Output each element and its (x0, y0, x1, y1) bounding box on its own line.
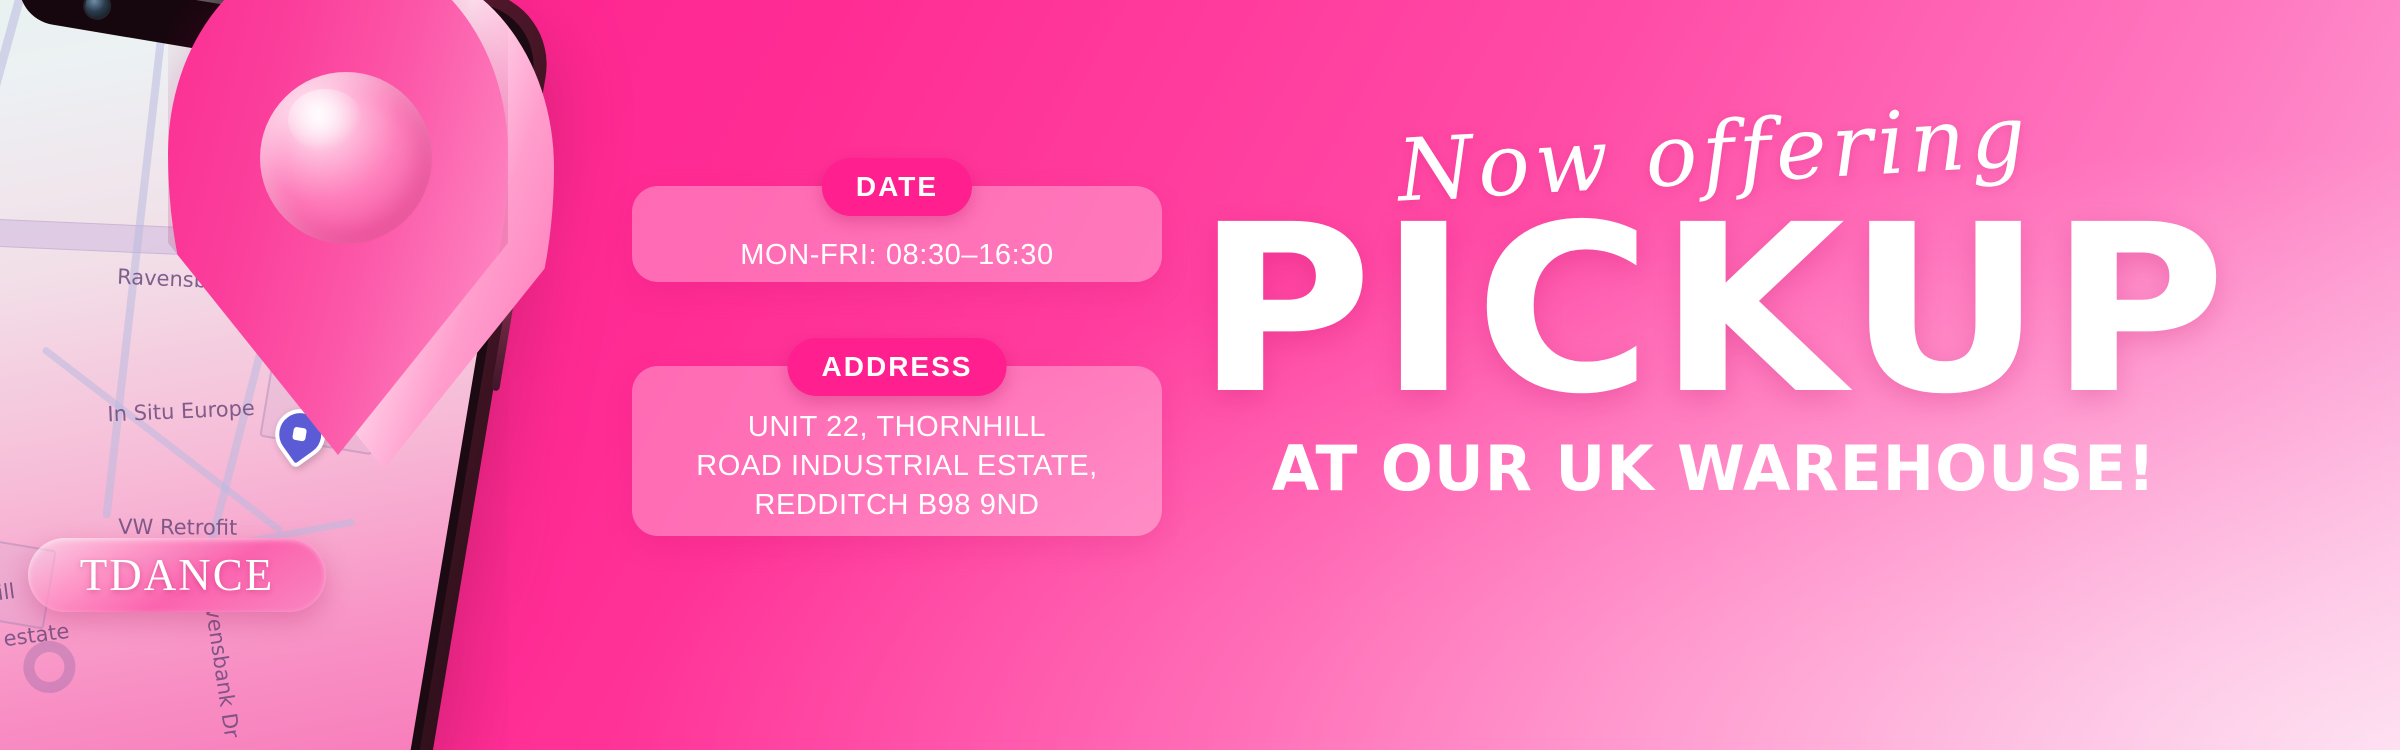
headline-sub-text: AT OUR UK WAREHOUSE! (1130, 432, 2298, 505)
phone-map-illustration: Ravensbank Dr Ravensbank VW Retrofit In … (0, 0, 620, 750)
map-pin-front-layer (168, 0, 508, 455)
map-label-vw-retrofit: VW Retrofit (118, 515, 237, 540)
info-card-group: DATE MON-FRI: 08:30–16:30 ADDRESS UNIT 2… (632, 186, 1162, 536)
map-pin-sphere (260, 72, 432, 244)
address-card-line-2: ROAD INDUSTRIAL ESTATE, (658, 447, 1136, 486)
map-pin-3d (168, 0, 588, 510)
brand-logo-pill: TDANCE (28, 538, 326, 612)
address-card-label: ADDRESS (788, 338, 1007, 396)
map-road-vertical-1 (0, 0, 24, 404)
address-card-line-3: REDDITCH B98 9ND (658, 486, 1136, 525)
address-card-line-1: UNIT 22, THORNHILL (658, 408, 1136, 447)
address-card: ADDRESS UNIT 22, THORNHILL ROAD INDUSTRI… (632, 366, 1162, 536)
date-card-line: MON-FRI: 08:30–16:30 (658, 236, 1136, 275)
date-card-label: DATE (822, 158, 972, 216)
phone-front-camera (81, 0, 113, 22)
date-card: DATE MON-FRI: 08:30–16:30 (632, 186, 1162, 282)
headline-main-text: PICKUP (1100, 200, 2327, 420)
headline-group: Now offering PICKUP AT OUR UK WAREHOUSE! (1124, 104, 2304, 505)
brand-logo-text: TDANCE (80, 549, 274, 601)
promo-banner: Ravensbank Dr Ravensbank VW Retrofit In … (0, 0, 2400, 750)
